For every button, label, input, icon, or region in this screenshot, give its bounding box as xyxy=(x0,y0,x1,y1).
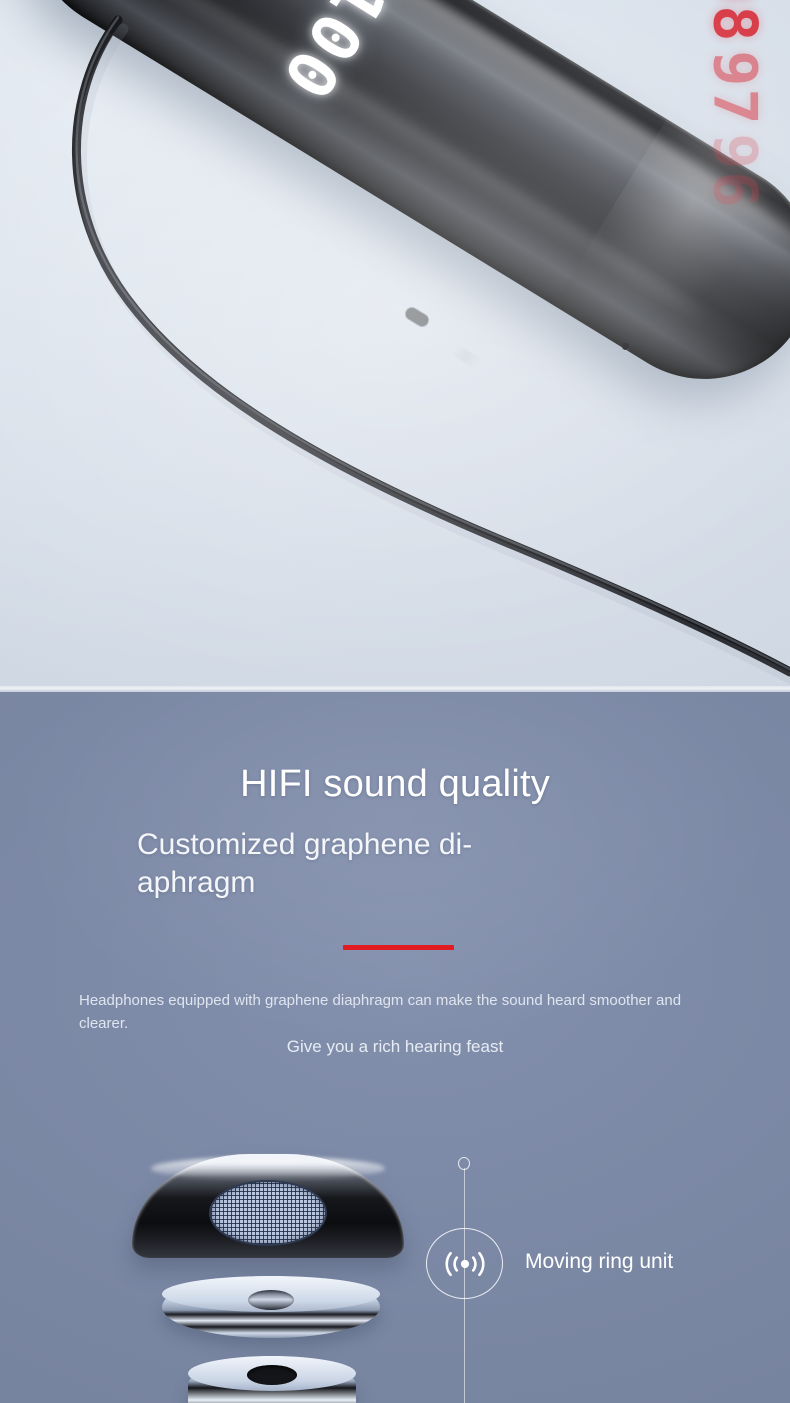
product-photo-panel: %100 98 97 96 xyxy=(0,0,790,692)
callout-label: Moving ring unit xyxy=(525,1250,673,1274)
magnet-center-hole xyxy=(247,1365,297,1385)
magnet-ring-disc-icon xyxy=(188,1356,356,1403)
mesh-grille-icon xyxy=(209,1180,327,1246)
signal-waves-icon xyxy=(442,1247,488,1281)
plate-center-hole xyxy=(248,1290,294,1310)
callout-badge xyxy=(426,1228,503,1299)
page-title: HIFI sound quality xyxy=(0,763,790,806)
dome-highlight xyxy=(151,1157,385,1180)
metal-disc-plate-icon xyxy=(162,1276,380,1338)
tagline-text: Give you a rich hearing feast xyxy=(0,1037,790,1057)
body-description: Headphones equipped with graphene diaphr… xyxy=(79,990,699,1035)
exploded-driver-diagram xyxy=(120,1148,420,1403)
red-divider xyxy=(343,945,454,950)
earphone-cable xyxy=(0,0,790,692)
page-subtitle: Customized graphene di-aphragm xyxy=(137,826,557,903)
product-marketing-page: %100 98 97 96 HIFI sound quality Customi… xyxy=(0,0,790,1403)
callout-endpoint-circle-icon xyxy=(458,1157,470,1170)
speaker-dome-with-mesh-grille-icon xyxy=(132,1154,404,1258)
